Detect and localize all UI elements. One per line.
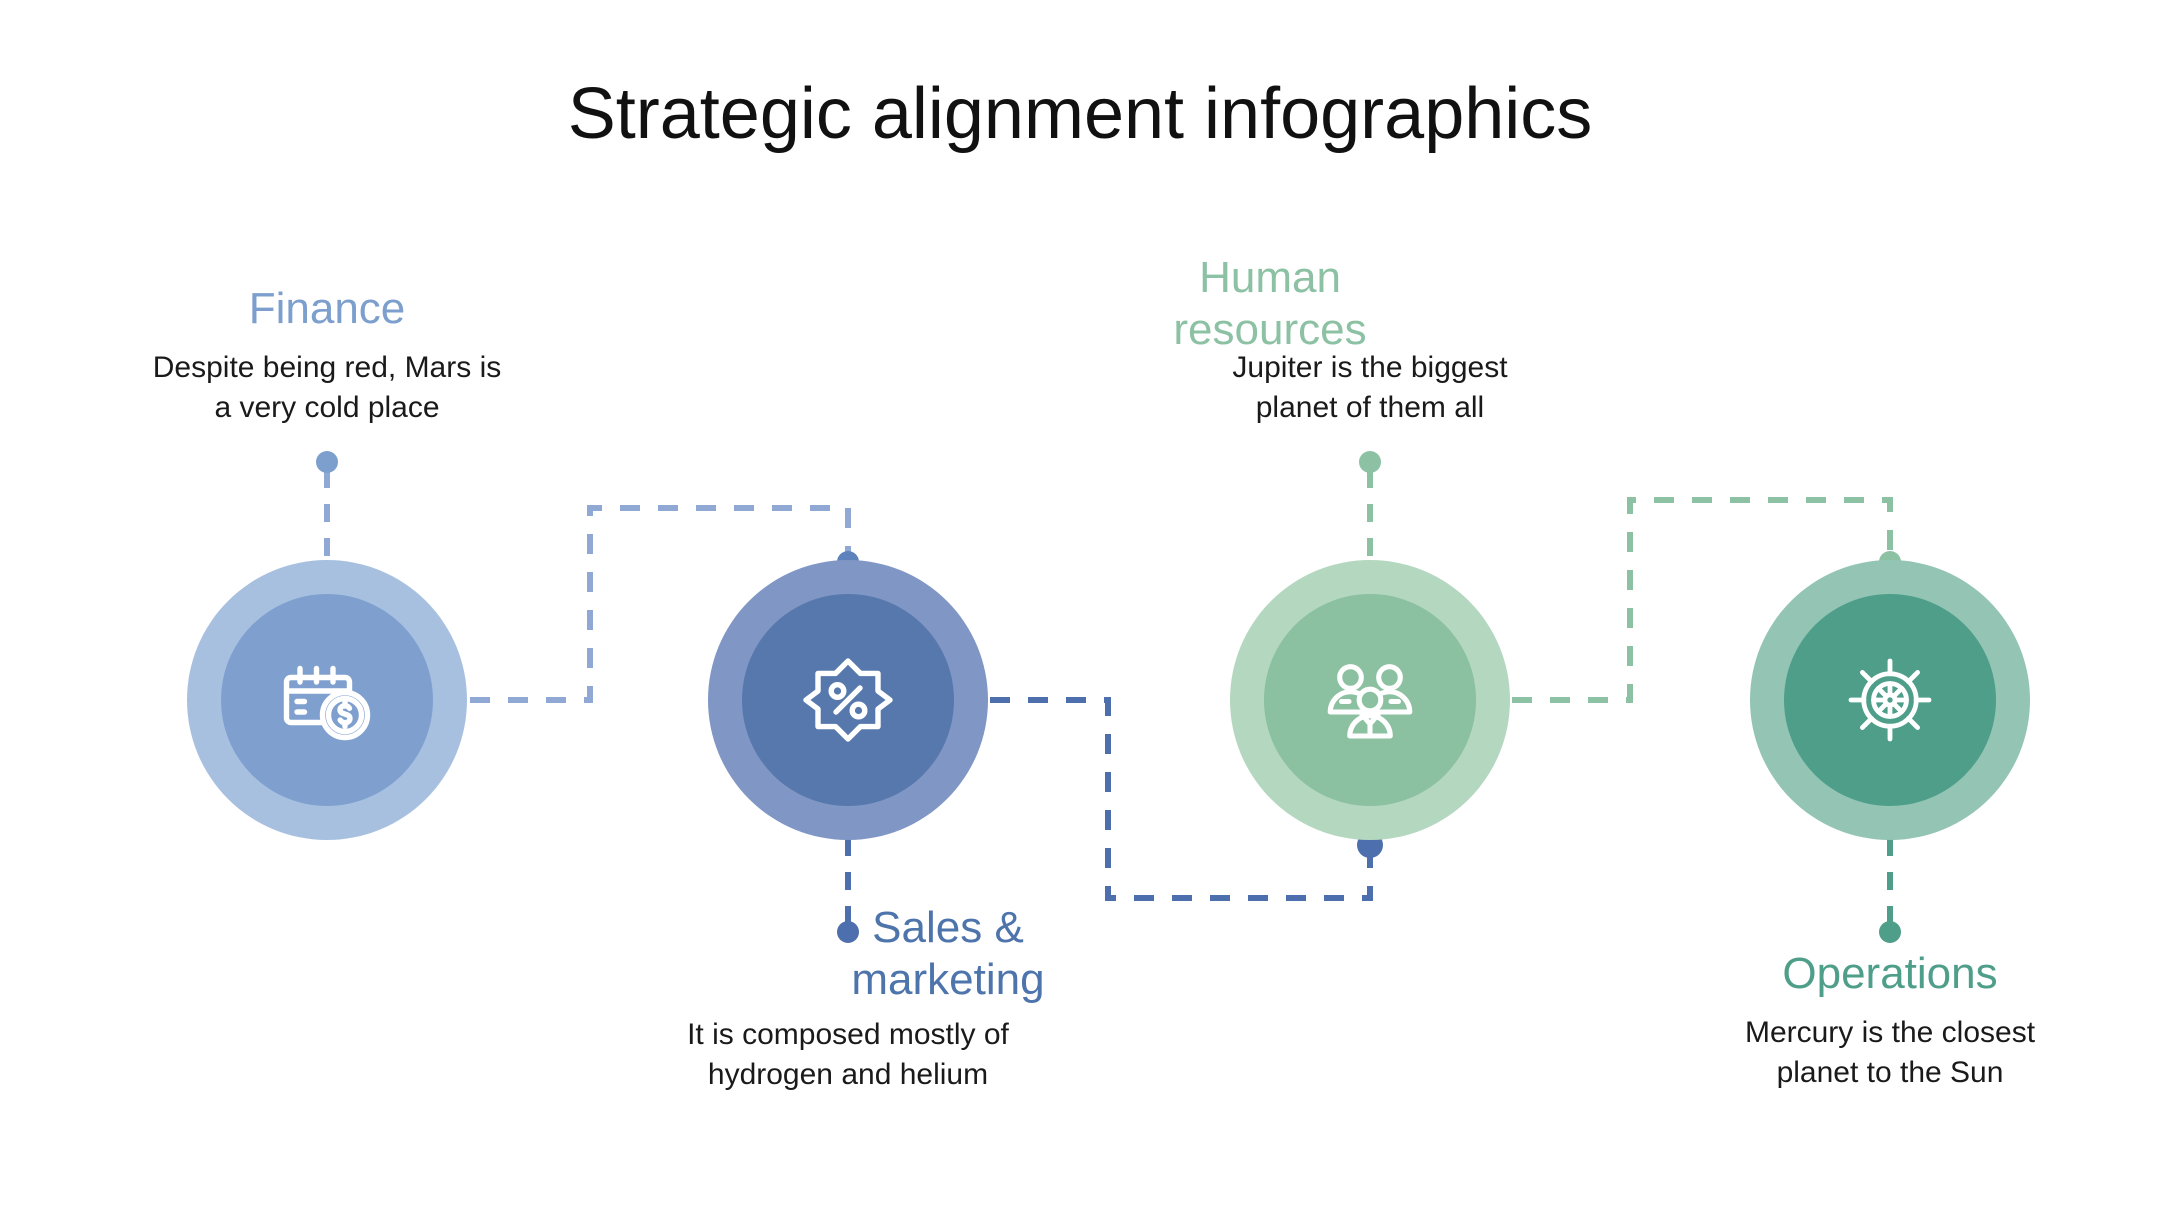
node-sales-marketing[interactable] [708, 560, 988, 840]
desc-sales-marketing: It is composed mostly of hydrogen and he… [628, 1015, 1068, 1094]
desc-human-resources-line-1: Jupiter is the biggest [1150, 348, 1590, 388]
desc-operations: Mercury is the closest planet to the Sun [1640, 1013, 2140, 1092]
desc-sales-marketing-line-2: hydrogen and helium [628, 1055, 1068, 1095]
node-human-resources-core [1264, 594, 1476, 806]
desc-operations-line-1: Mercury is the closest [1640, 1013, 2140, 1053]
node-finance-core [221, 594, 433, 806]
people-group-icon [1322, 652, 1418, 748]
desc-human-resources: Jupiter is the biggest planet of them al… [1150, 348, 1590, 427]
node-operations[interactable] [1750, 560, 2030, 840]
desc-finance-line-1: Despite being red, Mars is [77, 348, 577, 388]
infographic-canvas: Strategic alignment infographics [0, 0, 2160, 1215]
node-operations-core [1784, 594, 1996, 806]
label-sales-marketing: Sales & marketing [848, 902, 1048, 1006]
desc-finance-line-2: a very cold place [77, 388, 577, 428]
connector-operations-stem [1879, 838, 1901, 943]
label-finance: Finance [127, 283, 527, 335]
node-finance[interactable] [187, 560, 467, 840]
desc-finance: Despite being red, Mars is a very cold p… [77, 348, 577, 427]
desc-human-resources-line-2: planet of them all [1150, 388, 1590, 428]
label-operations: Operations [1690, 948, 2090, 1000]
node-sales-marketing-core [742, 594, 954, 806]
desc-sales-marketing-line-1: It is composed mostly of [628, 1015, 1068, 1055]
ship-helm-icon [1842, 652, 1938, 748]
node-human-resources[interactable] [1230, 560, 1510, 840]
desc-operations-line-2: planet to the Sun [1640, 1053, 2140, 1093]
discount-badge-icon [800, 652, 896, 748]
label-human-resources: Human resources [1170, 252, 1370, 356]
calendar-dollar-icon [279, 652, 375, 748]
